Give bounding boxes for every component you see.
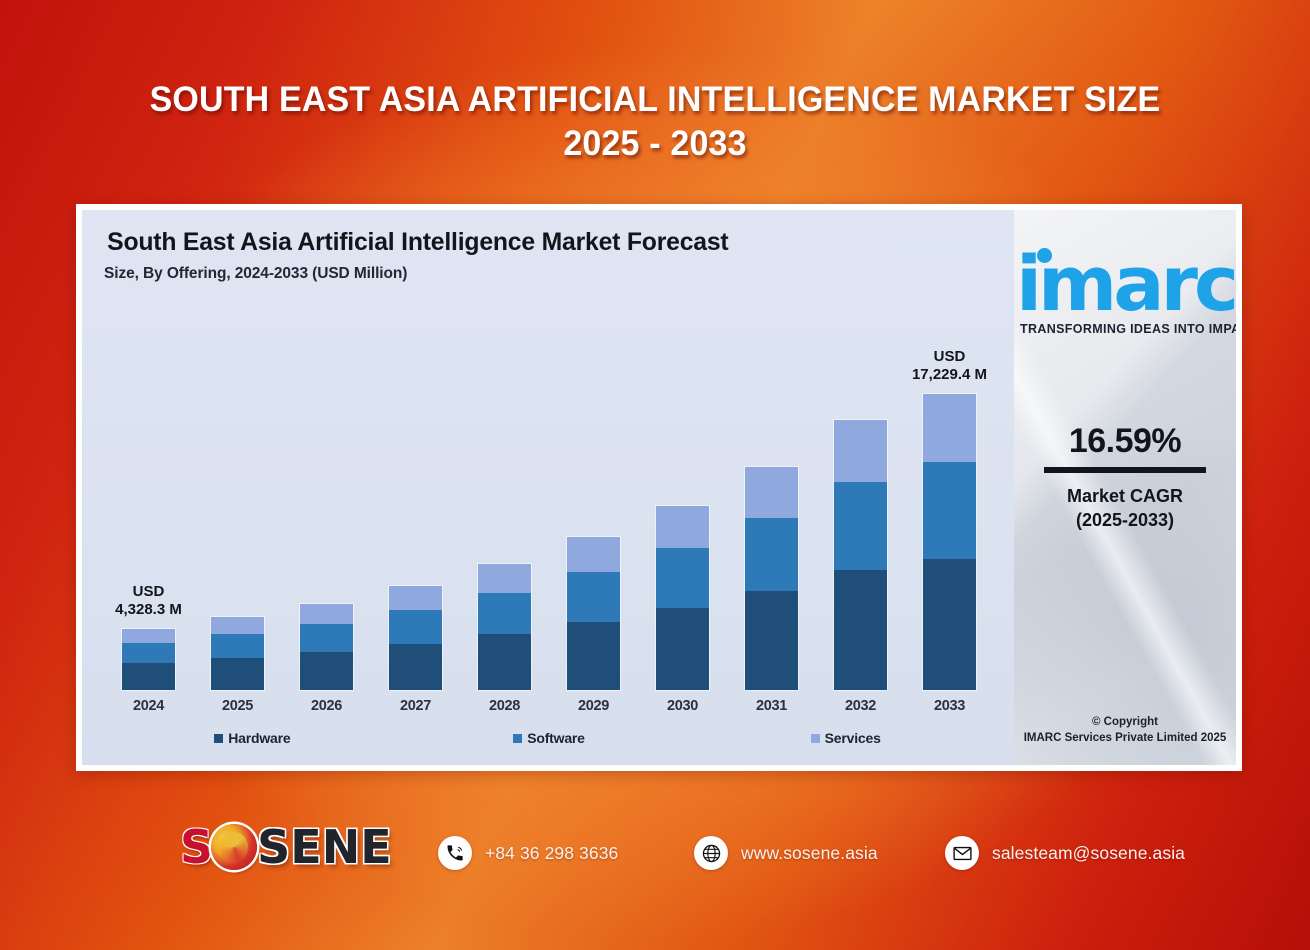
bar-segment-hardware-2028 — [478, 634, 531, 690]
bar-segment-software-2029 — [567, 572, 620, 622]
stacked-bar-2026 — [300, 604, 353, 690]
legend-item-services[interactable]: Services — [697, 730, 994, 746]
cagr-period: (2025-2033) — [1014, 510, 1236, 531]
bar-column-2033: USD17,229.4 M — [905, 302, 994, 690]
x-axis-label-2031: 2031 — [727, 698, 816, 714]
x-axis-label-2030: 2030 — [638, 698, 727, 714]
bar-segment-software-2031 — [745, 518, 798, 591]
chart-title: South East Asia Artificial Intelligence … — [107, 228, 728, 257]
chart-subtitle: Size, By Offering, 2024-2033 (USD Millio… — [104, 265, 407, 283]
bar-segment-hardware-2025 — [211, 658, 264, 690]
cagr-block: 16.59% Market CAGR (2025-2033) — [1014, 422, 1236, 531]
phone-icon — [438, 836, 472, 870]
stacked-bar-2031 — [745, 467, 798, 690]
bar-column-2027 — [371, 302, 460, 690]
bar-segment-hardware-2030 — [656, 608, 709, 690]
x-axis-label-2024: 2024 — [104, 698, 193, 714]
chart-panel: South East Asia Artificial Intelligence … — [82, 210, 1014, 765]
page-title: SOUTH EAST ASIA ARTIFICIAL INTELLIGENCE … — [20, 78, 1291, 166]
imarc-logo-tagline: TRANSFORMING IDEAS INTO IMPACT — [1020, 322, 1236, 336]
bar-column-2028 — [460, 302, 549, 690]
contact-phone[interactable]: +84 36 298 3636 — [438, 836, 618, 870]
chart-plot-area: USD4,328.3 MUSD17,229.4 M — [104, 302, 994, 690]
stacked-bar-2027 — [389, 586, 442, 690]
x-axis-tick-labels: 2024202520262027202820292030203120322033 — [104, 698, 994, 714]
globe-icon — [694, 836, 728, 870]
stacked-bar-2028 — [478, 564, 531, 690]
copyright-notice: © Copyright IMARC Services Private Limit… — [1014, 714, 1236, 747]
bar-segment-hardware-2027 — [389, 644, 442, 690]
cagr-value: 16.59% — [1014, 422, 1236, 461]
bar-column-2024: USD4,328.3 M — [104, 302, 193, 690]
bar-segment-hardware-2029 — [567, 622, 620, 690]
bar-segment-services-2031 — [745, 467, 798, 518]
bar-segment-software-2027 — [389, 610, 442, 644]
x-axis-label-2026: 2026 — [282, 698, 371, 714]
bar-segment-hardware-2026 — [300, 652, 353, 690]
bar-value-label-2024: USD4,328.3 M — [115, 583, 182, 621]
bar-segment-hardware-2033 — [923, 559, 976, 690]
stacked-bar-2025 — [211, 617, 264, 690]
bar-column-2026 — [282, 302, 371, 690]
legend-label-software: Software — [527, 730, 585, 746]
stacked-bar-2029 — [567, 537, 620, 690]
bar-segment-software-2026 — [300, 624, 353, 652]
bar-segment-services-2025 — [211, 617, 264, 634]
bar-column-2029 — [549, 302, 638, 690]
footer-contact-bar: S SENE +84 36 298 3636 www.sosene.asia — [0, 806, 1310, 898]
stacked-bar-2030 — [656, 506, 709, 690]
bar-segment-services-2027 — [389, 586, 442, 610]
stacked-bar-2032 — [834, 420, 887, 690]
legend-item-hardware[interactable]: Hardware — [104, 730, 401, 746]
envelope-icon — [945, 836, 979, 870]
x-axis-label-2025: 2025 — [193, 698, 282, 714]
bar-segment-services-2030 — [656, 506, 709, 548]
bar-segment-software-2032 — [834, 482, 887, 570]
sosene-logo: S SENE — [180, 824, 392, 870]
x-axis-label-2032: 2032 — [816, 698, 905, 714]
bar-segment-software-2025 — [211, 634, 264, 658]
x-axis-label-2028: 2028 — [460, 698, 549, 714]
imarc-logo: imarc TRANSFORMING IDEAS INTO IMPACT — [1016, 232, 1236, 324]
chart-card: South East Asia Artificial Intelligence … — [76, 204, 1242, 771]
bar-column-2030 — [638, 302, 727, 690]
imarc-logo-wordmark: imarc — [1016, 246, 1235, 322]
page-title-line-2: 2025 - 2033 — [20, 122, 1291, 166]
contact-email[interactable]: salesteam@sosene.asia — [945, 836, 1185, 870]
sosene-logo-swirl-icon — [211, 824, 257, 870]
chart-legend: HardwareSoftwareServices — [104, 730, 994, 746]
bar-segment-software-2024 — [122, 643, 175, 663]
copyright-line-1: © Copyright — [1014, 714, 1236, 731]
cagr-divider — [1044, 467, 1206, 473]
bar-column-2025 — [193, 302, 282, 690]
stacked-bar-2033 — [923, 394, 976, 690]
contact-website[interactable]: www.sosene.asia — [694, 836, 878, 870]
bar-column-2031 — [727, 302, 816, 690]
copyright-line-2: IMARC Services Private Limited 2025 — [1014, 730, 1236, 747]
bar-segment-software-2030 — [656, 548, 709, 608]
legend-label-hardware: Hardware — [228, 730, 290, 746]
bar-column-2032 — [816, 302, 905, 690]
email-address: salesteam@sosene.asia — [992, 843, 1185, 864]
legend-swatch-software-icon — [513, 734, 522, 743]
legend-swatch-hardware-icon — [214, 734, 223, 743]
x-axis-label-2033: 2033 — [905, 698, 994, 714]
page-title-line-1: SOUTH EAST ASIA ARTIFICIAL INTELLIGENCE … — [150, 80, 1161, 119]
bar-segment-services-2024 — [122, 629, 175, 643]
legend-swatch-services-icon — [811, 734, 820, 743]
bar-segment-hardware-2031 — [745, 591, 798, 690]
bar-series-group: USD4,328.3 MUSD17,229.4 M — [104, 302, 994, 690]
imarc-side-panel: imarc TRANSFORMING IDEAS INTO IMPACT 16.… — [1014, 210, 1236, 765]
bar-segment-software-2033 — [923, 462, 976, 559]
bar-value-label-2033: USD17,229.4 M — [912, 348, 987, 386]
bar-segment-services-2029 — [567, 537, 620, 572]
bar-segment-services-2028 — [478, 564, 531, 593]
phone-number: +84 36 298 3636 — [485, 843, 618, 864]
cagr-label: Market CAGR — [1014, 483, 1236, 510]
x-axis-label-2029: 2029 — [549, 698, 638, 714]
bar-segment-services-2033 — [923, 394, 976, 462]
bar-segment-services-2026 — [300, 604, 353, 624]
website-url: www.sosene.asia — [741, 843, 878, 864]
bar-segment-hardware-2024 — [122, 663, 175, 690]
sosene-logo-letter-s: S — [180, 824, 213, 870]
stacked-bar-2024 — [122, 629, 175, 690]
sosene-logo-text: SENE — [257, 824, 391, 870]
bar-segment-services-2032 — [834, 420, 887, 482]
legend-item-software[interactable]: Software — [401, 730, 698, 746]
bar-segment-hardware-2032 — [834, 570, 887, 690]
legend-label-services: Services — [825, 730, 881, 746]
bar-segment-software-2028 — [478, 593, 531, 634]
x-axis-label-2027: 2027 — [371, 698, 460, 714]
